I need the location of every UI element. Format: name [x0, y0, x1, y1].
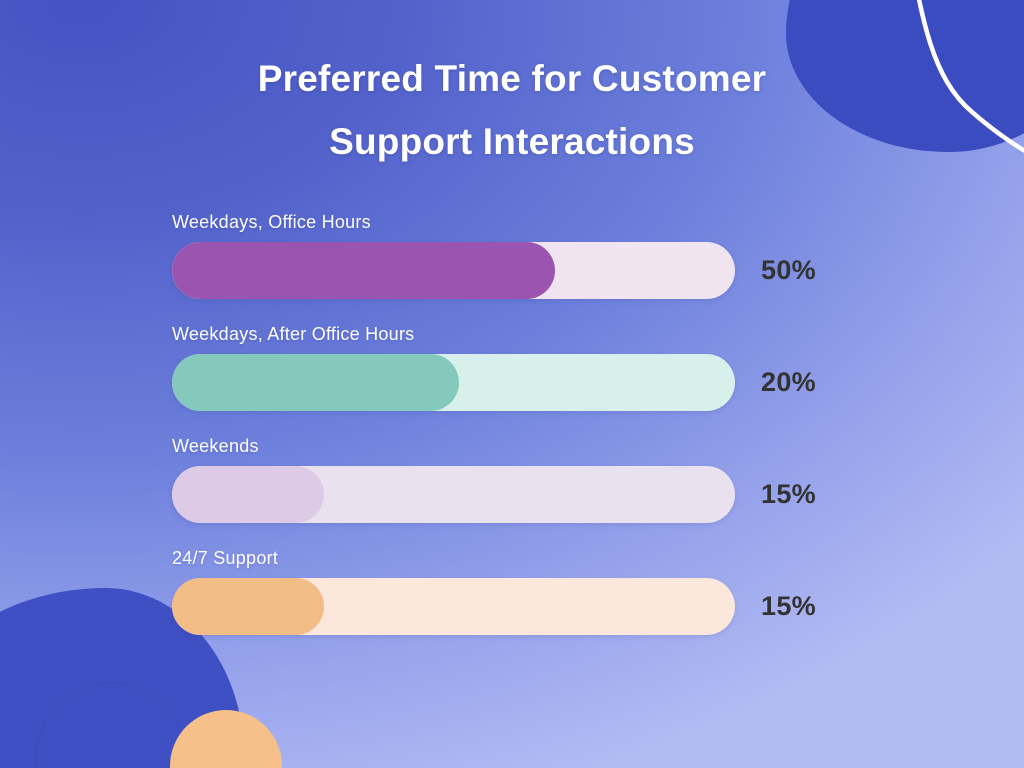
infographic-poster: Preferred Time for Customer Support Inte…	[0, 0, 1024, 768]
bar-label: Weekdays, Office Hours	[172, 212, 852, 233]
bar-fill	[172, 242, 555, 299]
bar-track	[172, 466, 735, 523]
bar-line: 50%	[172, 242, 852, 299]
bar-label: 24/7 Support	[172, 548, 852, 569]
page-title-line-1: Preferred Time for Customer	[258, 58, 766, 99]
bar-row: 24/7 Support 15%	[172, 548, 852, 635]
bar-fill	[172, 354, 459, 411]
bar-line: 15%	[172, 466, 852, 523]
bar-track	[172, 242, 735, 299]
page-title-line-2: Support Interactions	[329, 121, 695, 162]
bar-fill	[172, 466, 324, 523]
bar-row: Weekends 15%	[172, 436, 852, 523]
bar-value-label: 50%	[761, 255, 816, 286]
bar-fill	[172, 578, 324, 635]
decorative-circle-outline	[36, 682, 186, 768]
bar-track	[172, 354, 735, 411]
bar-value-label: 15%	[761, 479, 816, 510]
bar-line: 15%	[172, 578, 852, 635]
page-title: Preferred Time for Customer Support Inte…	[0, 48, 1024, 174]
bar-row: Weekdays, After Office Hours 20%	[172, 324, 852, 411]
bar-label: Weekdays, After Office Hours	[172, 324, 852, 345]
bar-value-label: 15%	[761, 591, 816, 622]
bar-track	[172, 578, 735, 635]
bar-chart: Weekdays, Office Hours 50% Weekdays, Aft…	[172, 212, 852, 635]
bar-line: 20%	[172, 354, 852, 411]
decorative-orange-circle	[170, 710, 282, 768]
bar-value-label: 20%	[761, 367, 816, 398]
bar-label: Weekends	[172, 436, 852, 457]
bar-row: Weekdays, Office Hours 50%	[172, 212, 852, 299]
